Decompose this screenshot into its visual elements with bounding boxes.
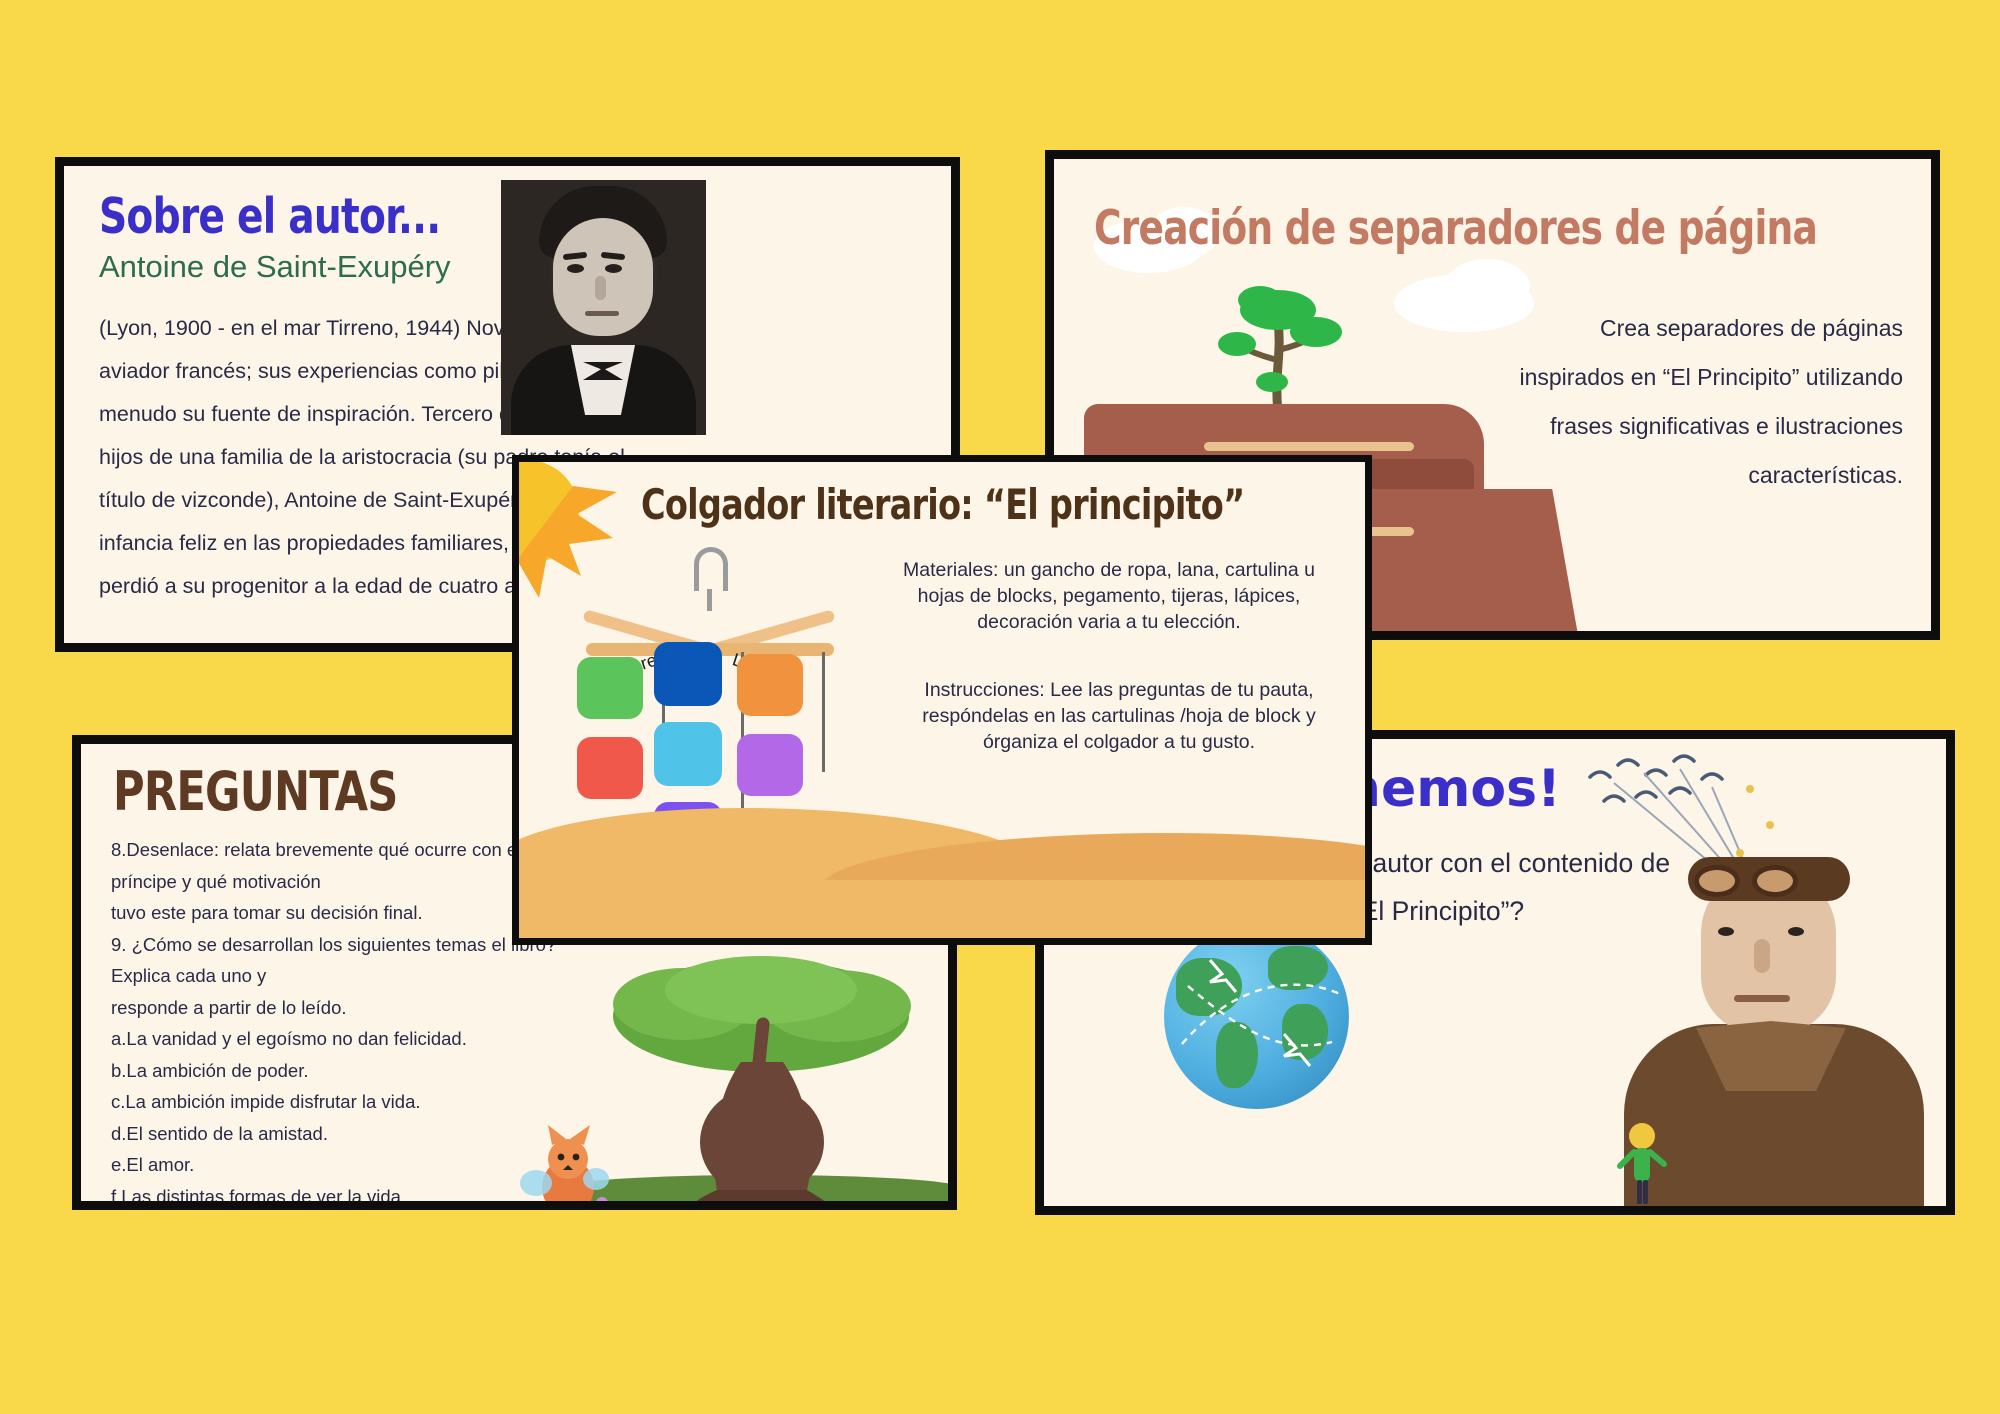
list-item: 9. ¿Cómo se desarrollan los siguientes t… — [111, 929, 581, 992]
list-item: tuvo este para tomar su decisión final. — [111, 897, 581, 929]
hanger-stem — [707, 589, 712, 611]
mesa-highlight-line — [1204, 442, 1414, 451]
separadores-instruction-text: Crea separadores de páginas inspirados e… — [1493, 304, 1903, 500]
little-prince-icon — [1612, 1118, 1672, 1208]
tile-cyan — [654, 722, 722, 786]
pilot-portrait-illustration — [1606, 799, 1936, 1214]
tile-green — [577, 657, 643, 719]
list-item: a.La vanidad y el egoísmo no dan felicid… — [111, 1023, 581, 1055]
list-item: responde a partir de lo leído. — [111, 992, 581, 1024]
desert-dunes-illustration — [519, 778, 1365, 938]
page-title-colgador: Colgador literario: “El principito” — [641, 480, 1244, 529]
hanger-string — [822, 652, 825, 772]
colgador-materials-text: Materiales: un gancho de ropa, lana, car… — [879, 557, 1339, 635]
fox-illustration — [506, 1119, 616, 1210]
colgador-instructions-text: Instrucciones: Lee las preguntas de tu p… — [899, 677, 1339, 755]
tile-blue — [654, 642, 722, 706]
hanger-hook-icon — [694, 547, 728, 591]
baobab-sapling-icon — [1204, 264, 1354, 414]
earth-globe-icon — [1164, 924, 1349, 1109]
list-item: b.La ambición de poder. — [111, 1055, 581, 1087]
page-title-preguntas: PREGUNTAS — [113, 760, 398, 823]
slide-deck-canvas: Sobre el autor... Antoine de Saint-Exupé… — [0, 0, 2000, 1414]
list-item: c.La ambición impide disfrutar la vida. — [111, 1086, 581, 1118]
page-title-creacion-separadores: Creación de separadores de página — [1094, 201, 1817, 256]
baobab-tree-illustration — [591, 944, 931, 1210]
list-item: 8.Desenlace: relata brevemente qué ocurr… — [111, 834, 581, 897]
flight-path-lines — [1164, 924, 1349, 1109]
tile-orange — [737, 654, 803, 716]
author-portrait-photo — [501, 180, 706, 435]
slide-card-colgador-literario[interactable]: Colgador literario: “El principito” Mate… — [512, 455, 1372, 945]
